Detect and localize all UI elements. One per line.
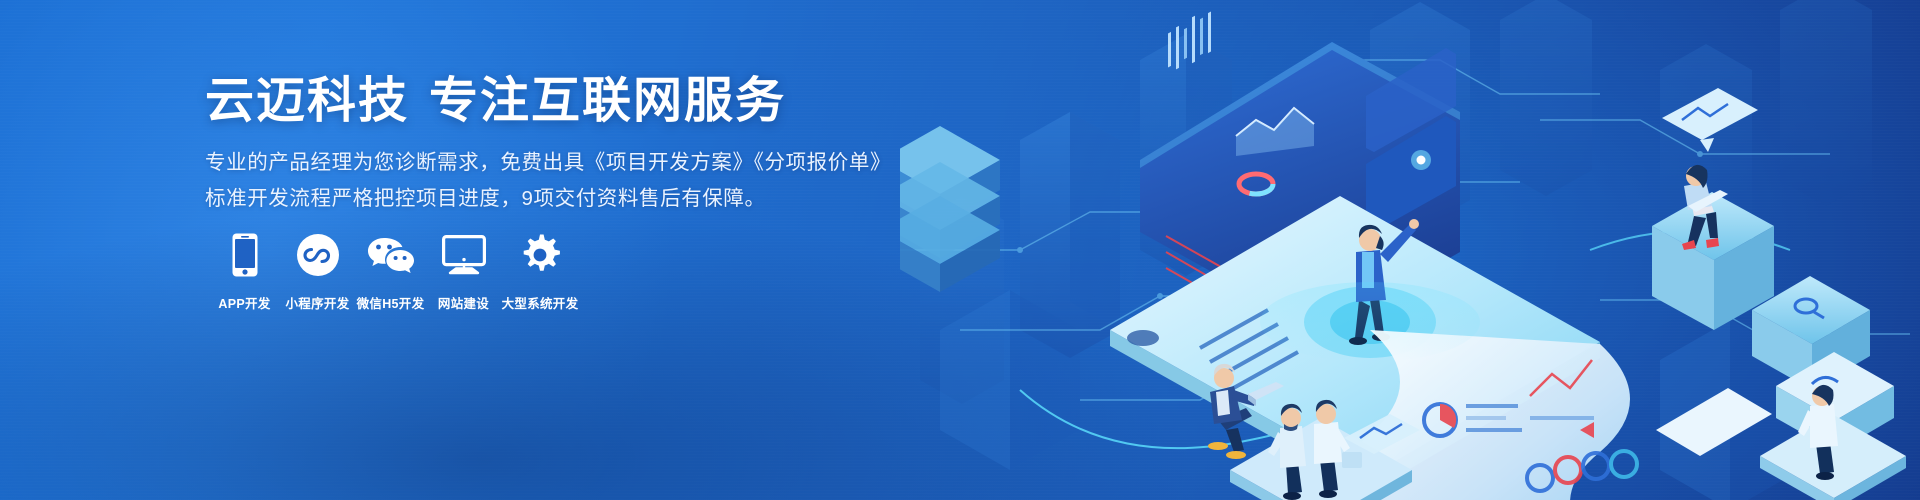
service-item-app[interactable]: APP开发 bbox=[208, 232, 281, 312]
text-content: 云迈科技专注互联网服务 专业的产品经理为您诊断需求，免费出具《项目开发方案》《分… bbox=[205, 0, 965, 500]
monitor-icon bbox=[442, 232, 486, 278]
mobile-phone-icon bbox=[232, 232, 258, 278]
service-item-mini-program[interactable]: 小程序开发 bbox=[281, 232, 354, 312]
service-label: 小程序开发 bbox=[285, 293, 349, 312]
promo-banner: 云迈科技专注互联网服务 专业的产品经理为您诊断需求，免费出具《项目开发方案》《分… bbox=[0, 0, 1920, 500]
mini-program-icon bbox=[297, 232, 339, 278]
service-label: 大型系统开发 bbox=[502, 293, 579, 312]
service-item-website[interactable]: 网站建设 bbox=[427, 232, 500, 312]
wechat-icon bbox=[367, 232, 415, 278]
service-item-wechat[interactable]: 微信H5开发 bbox=[354, 232, 427, 312]
gear-icon bbox=[519, 232, 561, 278]
subtitle-line-2: 标准开发流程严格把控项目进度，9项交付资料售后有保障。 bbox=[205, 181, 766, 211]
title-tagline: 专注互联网服务 bbox=[429, 74, 786, 128]
service-label: APP开发 bbox=[218, 293, 270, 312]
service-label: 微信H5开发 bbox=[357, 293, 425, 312]
title-brand: 云迈科技 bbox=[205, 74, 409, 128]
service-icon-row: APP开发 小程序开发 bbox=[208, 232, 580, 312]
service-label: 网站建设 bbox=[438, 293, 489, 312]
page-title: 云迈科技专注互联网服务 bbox=[205, 72, 786, 131]
subtitle-line-1: 专业的产品经理为您诊断需求，免费出具《项目开发方案》《分项报价单》 bbox=[205, 145, 891, 175]
service-item-large-system[interactable]: 大型系统开发 bbox=[500, 232, 580, 312]
isometric-illustration bbox=[900, 0, 1920, 500]
